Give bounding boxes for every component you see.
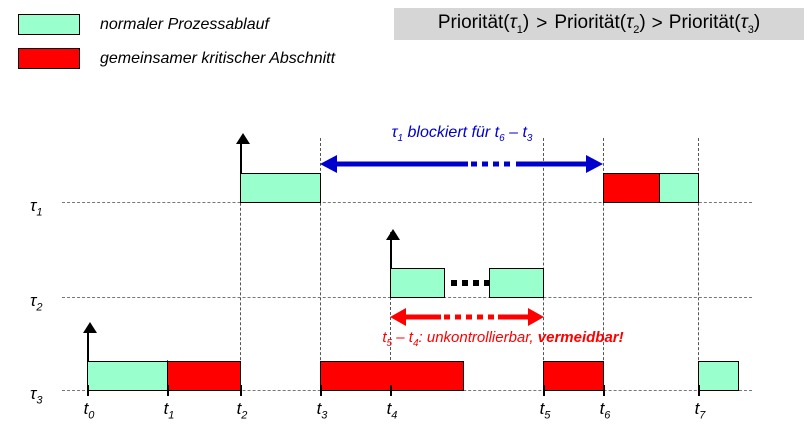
tick-label-t1: t1 [164,399,175,421]
tau2-continuation-dots [451,280,490,286]
tick-mark-t3 [320,385,322,396]
blue-annotation-label: τ1 blockiert für t6 – t3 [392,124,533,144]
tick-mark-t5 [543,385,545,396]
dot [488,315,494,320]
red-double-arrow [390,308,544,326]
blue-arrow-bar-right [516,162,587,167]
dot [455,315,461,320]
block-tau1-critical-1 [603,173,660,203]
tick-label-t6: t6 [600,399,611,421]
dot [504,162,510,167]
red-arrow-bar-left [405,315,441,320]
block-tau3-normal-2 [698,361,739,391]
dot [473,280,479,286]
red-annotation-rest: : unkontrollierbar, [419,329,538,346]
blue-arrowhead-right [586,155,603,173]
blue-annotation-word: blockiert für [403,124,495,141]
tick-mark-t7 [698,385,700,396]
block-tau2-normal-2 [489,268,544,298]
block-tau3-critical-1 [167,361,241,391]
tick-label-t7: t7 [695,399,706,421]
dot [444,315,450,320]
gridline-t5 [543,138,544,390]
timeline-chart: τ1 τ2 τ3 t0 t1 t2 t3 t4 t5 [0,0,812,432]
blue-arrow-dots [471,162,510,167]
blue-double-arrow [320,155,603,173]
dot [482,162,488,167]
dot [462,280,468,286]
tick-mark-t0 [87,385,89,396]
tick-label-t3: t3 [317,399,328,421]
block-tau1-normal-2 [659,173,699,203]
tick-label-t2: t2 [237,399,248,421]
block-tau1-normal-1 [240,173,321,203]
tick-mark-t6 [603,385,605,396]
tick-label-t5: t5 [540,399,551,421]
red-arrow-bar-right [498,315,528,320]
blue-arrowhead-left [320,155,337,173]
tick-mark-t1 [167,385,169,396]
block-tau3-critical-3 [543,361,604,391]
dot [451,280,457,286]
red-arrow-dots [444,315,494,320]
dot [477,315,483,320]
red-arrowhead-right [528,308,544,326]
dot [471,162,477,167]
tick-label-t4: t4 [387,399,398,421]
axis-label-tau3: τ3 [30,384,42,406]
axis-label-tau1: τ1 [30,196,42,218]
tick-mark-t4 [390,385,392,396]
red-arrowhead-left [390,308,406,326]
block-tau2-normal-1 [390,268,445,298]
blue-minus: – [505,124,523,141]
blue-arrow-bar-left [336,162,468,167]
red-annotation-emphasis: vermeidbar! [538,329,624,346]
tick-label-t0: t0 [84,399,95,421]
blue-t-b-sub: 3 [527,133,533,144]
block-tau3-critical-2 [320,361,464,391]
dot [466,315,472,320]
red-annotation-label: t5 – t4: unkontrollierbar, vermeidbar! [382,329,623,349]
block-tau3-normal-1 [87,361,168,391]
axis-label-tau2: τ2 [30,291,42,313]
dot [493,162,499,167]
red-minus: – [392,329,409,346]
tick-mark-t2 [240,385,242,396]
